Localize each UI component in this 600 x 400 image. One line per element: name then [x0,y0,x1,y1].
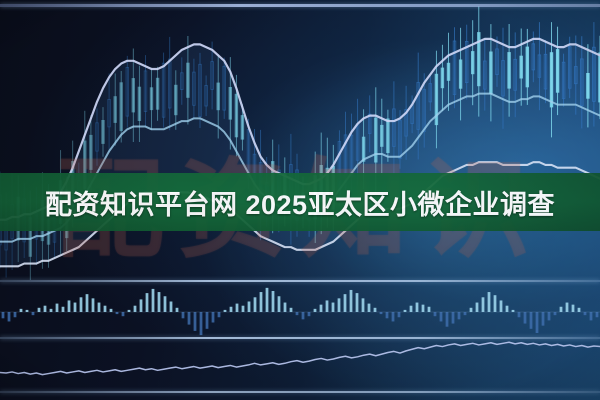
vignette-overlay [0,0,600,400]
chart-banner-image: 配资知识 配资知识平台网 2025亚太区小微企业调查 [0,0,600,400]
